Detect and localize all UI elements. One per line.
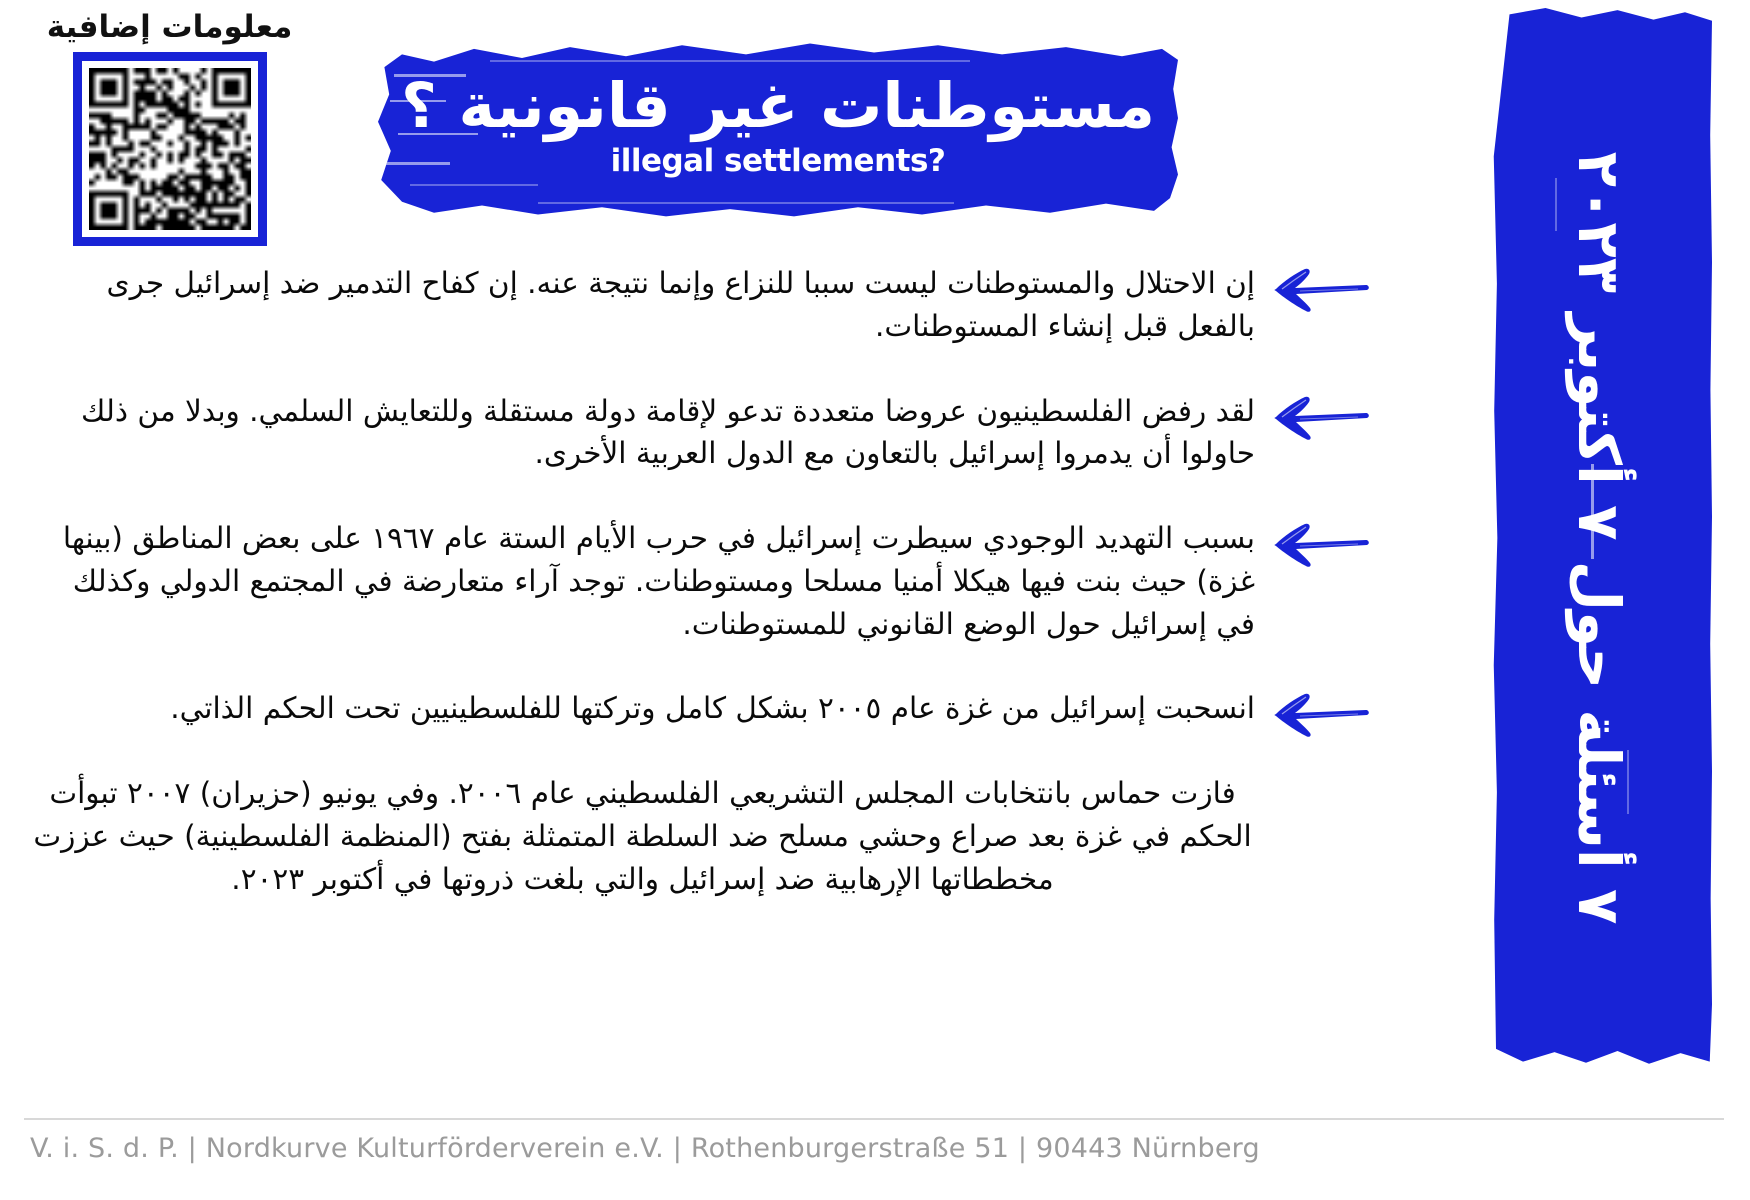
page-title-english: illegal settlements? (611, 143, 946, 179)
sidebar-vertical-title-text: ٧ أسئلة حول ٧ أكتوبر ٢٠٢٣ (1566, 152, 1634, 925)
paragraph-row-5: فازت حماس بانتخابات المجلس التشريعي الفل… (30, 772, 1255, 900)
paragraph-row-4: انسحبت إسرائيل من غزة عام ٢٠٠٥ بشكل كامل… (30, 687, 1255, 730)
title-banner: مستوطنات غير قانونية ؟ illegal settlemen… (378, 38, 1178, 220)
paragraph-text-1: إن الاحتلال والمستوطنات ليست سببا للنزاع… (30, 262, 1255, 348)
paragraph-text-5: فازت حماس بانتخابات المجلس التشريعي الفل… (30, 772, 1255, 900)
sidebar-vertical-title: ٧ أسئلة حول ٧ أكتوبر ٢٠٢٣ (1487, 8, 1712, 1068)
qr-code-canvas (89, 68, 251, 230)
brush-arrow-left-icon (1270, 521, 1370, 567)
poster-page: معلومات إضافية مستوطنات غير قانونية ؟ il… (0, 0, 1750, 1200)
brush-arrow-left-icon (1270, 691, 1370, 737)
paragraph-text-2: لقد رفض الفلسطينيون عروضا متعددة تدعو لإ… (30, 390, 1255, 476)
paragraph-text-3: بسبب التهديد الوجودي سيطرت إسرائيل في حر… (30, 517, 1255, 645)
qr-code-icon[interactable] (73, 52, 267, 246)
brush-arrow-left-icon (1270, 266, 1370, 312)
paragraph-row-1: إن الاحتلال والمستوطنات ليست سببا للنزاع… (30, 262, 1255, 348)
banner-text-group: مستوطنات غير قانونية ؟ illegal settlemen… (378, 38, 1178, 220)
page-title-arabic: مستوطنات غير قانونية ؟ (401, 73, 1155, 138)
footer-imprint: V. i. S. d. P. | Nordkurve Kulturförderv… (30, 1133, 1260, 1164)
sidebar-banner: ٧ أسئلة حول ٧ أكتوبر ٢٠٢٣ (1487, 8, 1712, 1068)
paragraph-row-2: لقد رفض الفلسطينيون عروضا متعددة تدعو لإ… (30, 390, 1255, 476)
brush-arrow-left-icon (1270, 394, 1370, 440)
paragraph-row-3: بسبب التهديد الوجودي سيطرت إسرائيل في حر… (30, 517, 1255, 645)
paragraph-text-4: انسحبت إسرائيل من غزة عام ٢٠٠٥ بشكل كامل… (30, 687, 1255, 730)
footer-divider (24, 1118, 1724, 1120)
qr-block: معلومات إضافية (62, 10, 277, 246)
body-content: إن الاحتلال والمستوطنات ليست سببا للنزاع… (30, 262, 1255, 942)
qr-label: معلومات إضافية (47, 10, 293, 44)
